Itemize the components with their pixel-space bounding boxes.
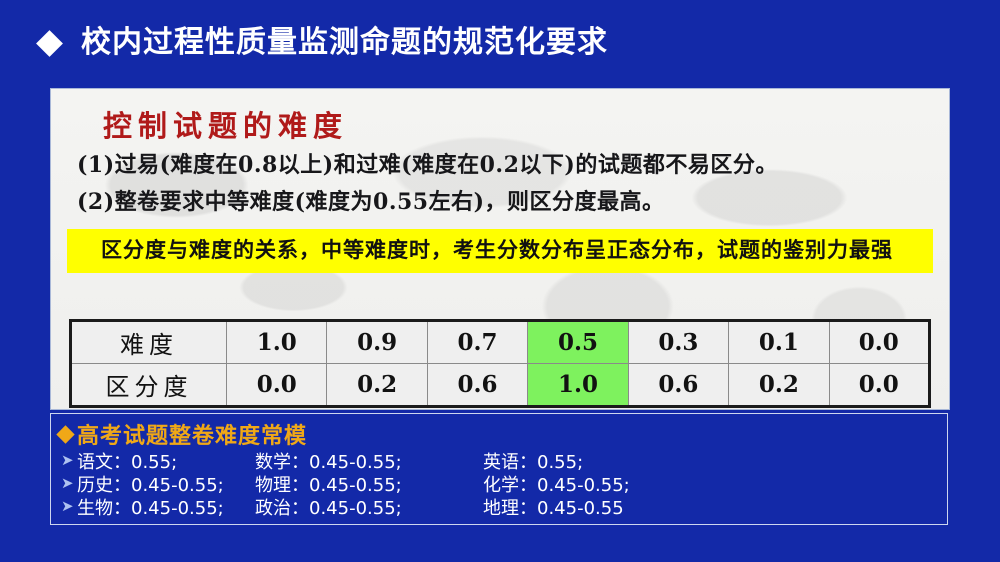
cell-discrimination-4: 0.6 — [628, 364, 728, 407]
cell-discrimination-2: 0.6 — [427, 364, 527, 407]
cell-difficulty-0: 1.0 — [227, 321, 327, 364]
list-item: ➤ 生物：0.45-0.55; 政治：0.45-0.55; 地理：0.45-0.… — [61, 495, 941, 518]
row-label-difficulty: 难度 — [71, 321, 227, 364]
arrow-bullet-icon: ➤ — [61, 453, 77, 468]
table-row: 难度 1.0 0.9 0.7 0.5 0.3 0.1 0.0 — [71, 321, 930, 364]
cell-difficulty-6: 0.0 — [829, 321, 929, 364]
card-line-1: (1)过易(难度在0.8以上)和过难(难度在0.2以下)的试题都不易区分。 — [77, 147, 778, 179]
arrow-bullet-icon: ➤ — [61, 476, 77, 491]
cell-difficulty-2: 0.7 — [427, 321, 527, 364]
cell-difficulty-5: 0.1 — [729, 321, 829, 364]
subject-politics: 政治：0.45-0.55; — [255, 494, 483, 520]
cell-difficulty-1: 0.9 — [327, 321, 427, 364]
cell-discrimination-0: 0.0 — [227, 364, 327, 407]
row-label-discrimination: 区分度 — [71, 364, 227, 407]
table-row: 区分度 0.0 0.2 0.6 1.0 0.6 0.2 0.0 — [71, 364, 930, 407]
cell-discrimination-5: 0.2 — [729, 364, 829, 407]
diamond-icon — [56, 425, 74, 443]
list-item: ➤ 历史：0.45-0.55; 物理：0.45-0.55; 化学：0.45-0.… — [61, 472, 941, 495]
card-heading: 控制试题的难度 — [103, 103, 348, 145]
cell-difficulty-3: 0.5 — [528, 321, 628, 364]
footer-list: ➤ 语文：0.55; 数学：0.45-0.55; 英语：0.55; ➤ 历史：0… — [61, 449, 941, 518]
cell-discrimination-3: 1.0 — [528, 364, 628, 407]
cell-difficulty-4: 0.3 — [628, 321, 728, 364]
card-line-2: (2)整卷要求中等难度(难度为0.55左右)，则区分度最高。 — [77, 184, 665, 216]
page-title: 校内过程性质量监测命题的规范化要求 — [81, 28, 608, 58]
content-card: 控制试题的难度 (1)过易(难度在0.8以上)和过难(难度在0.2以下)的试题都… — [50, 88, 950, 410]
highlight-text: 区分度与难度的关系，中等难度时，考生分数分布呈正态分布，试题的鉴别力最强 — [77, 235, 923, 265]
slide-title-bar: 校内过程性质量监测命题的规范化要求 — [0, 18, 1000, 68]
cell-discrimination-1: 0.2 — [327, 364, 427, 407]
list-item: ➤ 语文：0.55; 数学：0.45-0.55; 英语：0.55; — [61, 449, 941, 472]
footer-heading-row: 高考试题整卷难度常模 — [59, 418, 307, 450]
difficulty-table-wrapper: 难度 1.0 0.9 0.7 0.5 0.3 0.1 0.0 区分度 0.0 0… — [69, 319, 931, 408]
diamond-icon — [36, 30, 63, 57]
footer-panel: 高考试题整卷难度常模 ➤ 语文：0.55; 数学：0.45-0.55; 英语：0… — [50, 413, 948, 525]
subject-biology: 生物：0.45-0.55; — [77, 494, 255, 520]
arrow-bullet-icon: ➤ — [61, 499, 77, 514]
subject-geography: 地理：0.45-0.55 — [483, 494, 624, 520]
footer-heading: 高考试题整卷难度常模 — [77, 418, 307, 450]
highlight-callout: 区分度与难度的关系，中等难度时，考生分数分布呈正态分布，试题的鉴别力最强 — [67, 229, 933, 273]
cell-discrimination-6: 0.0 — [829, 364, 929, 407]
difficulty-discrimination-table: 难度 1.0 0.9 0.7 0.5 0.3 0.1 0.0 区分度 0.0 0… — [69, 319, 931, 408]
